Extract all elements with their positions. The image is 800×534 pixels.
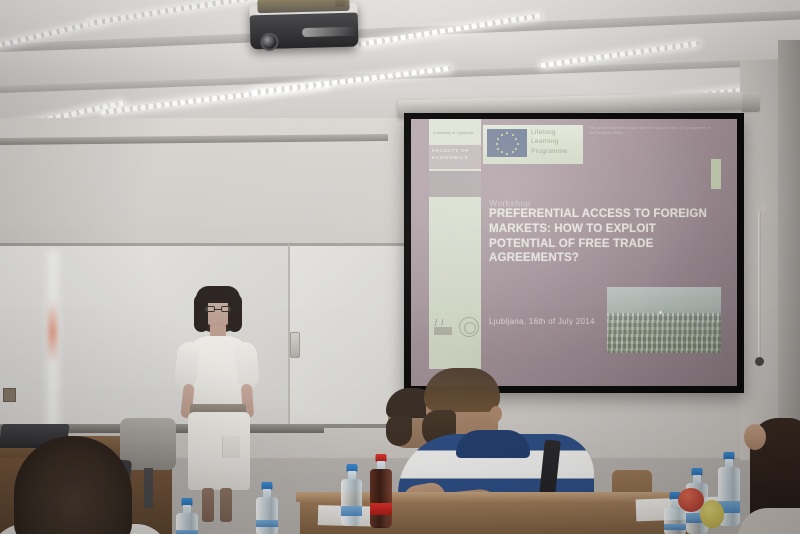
photo-container-yard xyxy=(607,313,721,353)
bottle-label xyxy=(370,503,392,515)
cola-bottle[interactable] xyxy=(370,454,392,528)
light-switch[interactable] xyxy=(290,332,300,358)
presenter-hair-left xyxy=(194,294,208,332)
projector-body xyxy=(250,13,359,50)
faculty-name: FACULTY OF ECONOMICS xyxy=(432,148,480,162)
screen-housing-cap xyxy=(742,92,760,112)
slide-partner-logos xyxy=(433,315,479,341)
presenter-hair-right xyxy=(228,294,242,332)
slide-photo-thumbnail xyxy=(607,287,721,353)
eu-stars xyxy=(496,132,518,154)
glasses-icon xyxy=(205,306,231,312)
attendee-right-edge xyxy=(744,400,800,534)
right-wall-edge xyxy=(778,40,800,460)
slide-accent-bar xyxy=(711,159,721,189)
bottle-body xyxy=(341,479,362,526)
bottle-body xyxy=(256,497,278,534)
projector-lens-icon xyxy=(260,33,278,51)
attendee-shoulder xyxy=(738,508,800,534)
signature-logo-icon xyxy=(433,317,455,337)
presenter-leg-left xyxy=(202,488,214,522)
photo-light-dot xyxy=(659,311,662,314)
presenter-sleeve-right xyxy=(234,341,261,389)
screen-rod-tip xyxy=(755,357,764,366)
projector-highlight xyxy=(302,27,356,37)
presentation-slide: University of Ljubljana FACULTY OF ECONO… xyxy=(411,119,737,386)
ceiling-projector xyxy=(249,3,358,50)
bottle-body xyxy=(664,507,686,534)
bottle-label xyxy=(664,524,686,530)
photograph-lecture-room: University of Ljubljana FACULTY OF ECONO… xyxy=(0,0,800,534)
whiteboard-reflection xyxy=(48,300,57,364)
slide-left-panel-divider xyxy=(429,171,481,197)
water-bottle[interactable] xyxy=(341,464,362,526)
university-name: University of Ljubljana xyxy=(433,131,479,135)
water-bottle[interactable] xyxy=(256,482,278,534)
lifelong-learning-text: Lifelong Learning Programme xyxy=(531,128,581,156)
slide-title: PREFERENTIAL ACCESS TO FOREIGN MARKETS: … xyxy=(489,207,721,266)
seal-logo-icon xyxy=(459,317,479,337)
attendee-hair xyxy=(424,368,500,412)
ll-line-1: Lifelong xyxy=(531,128,581,137)
presenter xyxy=(176,286,260,526)
bottle-body xyxy=(176,513,198,534)
presenter-leg-right xyxy=(220,488,232,522)
bottle-label xyxy=(341,506,362,515)
eu-funding-disclaimer: This project has been funded with the su… xyxy=(589,126,715,137)
slide-date: Ljubljana, 16th of July 2014 xyxy=(489,317,595,326)
bottle-label xyxy=(176,530,198,534)
projection-screen: University of Ljubljana FACULTY OF ECONO… xyxy=(411,119,737,386)
photo-sky xyxy=(607,287,721,313)
attendee-ear xyxy=(490,406,502,422)
attendee-ear xyxy=(744,424,766,450)
bottle-body xyxy=(370,469,392,528)
screen-pull-rod[interactable] xyxy=(758,212,761,360)
presenter-skirt xyxy=(188,412,250,490)
projector-cables xyxy=(257,0,349,13)
polo-collar xyxy=(456,430,530,458)
chair-stem xyxy=(144,468,153,508)
bottle-label xyxy=(256,520,278,528)
ll-line-3: Programme xyxy=(531,147,581,156)
wall-socket[interactable] xyxy=(3,388,16,402)
pear[interactable] xyxy=(700,500,724,528)
presenter-skirt-pocket xyxy=(222,436,240,458)
water-bottle[interactable] xyxy=(176,498,198,534)
eu-flag-icon xyxy=(487,129,527,157)
ll-line-2: Learning xyxy=(531,137,581,146)
